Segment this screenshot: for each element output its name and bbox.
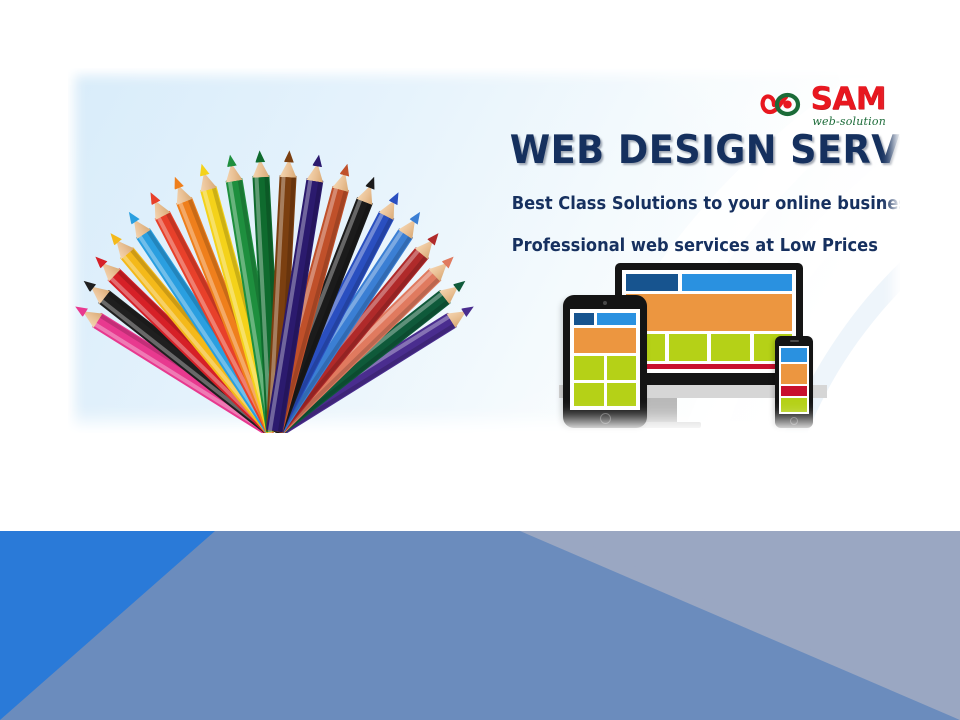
tablet-logo-block: [574, 313, 594, 325]
phone-home-button: [790, 417, 798, 425]
pencil-tip: [312, 154, 324, 167]
tablet-hero-block: [574, 328, 636, 353]
tablet-card-block: [574, 383, 604, 407]
monitor-header-row: [626, 274, 792, 291]
tablet-content-column: [607, 356, 637, 406]
tablet-nav-block: [597, 313, 636, 325]
tablet-header-row: [574, 313, 636, 325]
monitor-hero-block: [626, 294, 792, 331]
monitor-screen-content: [622, 270, 796, 373]
pencil-tip: [254, 150, 265, 163]
tablet-camera-icon: [603, 301, 607, 305]
monitor-logo-block: [626, 274, 678, 291]
pencil-tip: [339, 162, 352, 176]
responsive-devices-illustration: [563, 263, 823, 433]
pencil-tip: [388, 190, 402, 205]
monitor-nav-block: [682, 274, 792, 291]
slide-canvas: SAM web-solution WEB DESIGN SERVICES Bes…: [0, 0, 960, 720]
tablet-card-block: [574, 356, 604, 380]
phone-content-block: [781, 398, 807, 412]
pencil-tip: [365, 174, 379, 189]
web-design-services-banner: SAM web-solution WEB DESIGN SERVICES Bes…: [68, 68, 900, 433]
tablet-card-block: [607, 356, 637, 380]
pencil-tip: [225, 154, 237, 167]
pencil-tip: [283, 150, 294, 163]
tablet-content-grid: [574, 356, 636, 406]
logo-brand-text: SAM: [810, 84, 886, 115]
monitor-footer-block: [626, 364, 792, 369]
pencil-tip: [170, 174, 184, 189]
tablet-device: [563, 295, 647, 428]
monitor-card-block: [669, 334, 708, 361]
geometric-footer-band: [0, 531, 960, 720]
banner-subline-1: Best Class Solutions to your online busi…: [512, 194, 877, 214]
pencil-tip: [196, 162, 209, 176]
monitor-card-block: [711, 334, 750, 361]
phone-screen-content: [779, 346, 809, 414]
colored-pencils-photo: [74, 86, 474, 431]
logo-wordmark: SAM web-solution: [810, 84, 886, 127]
smartphone-device: [775, 336, 813, 428]
tablet-screen-content: [570, 309, 640, 410]
tablet-card-block: [607, 383, 637, 407]
banner-subline-2: Professional web services at Low Prices: [512, 236, 877, 256]
monitor-content-row: [626, 334, 792, 361]
phone-header-block: [781, 348, 807, 362]
tablet-content-column: [574, 356, 604, 406]
footer-shapes: [0, 531, 960, 720]
logo-tagline-text: web-solution: [810, 116, 886, 127]
phone-hero-block: [781, 364, 807, 384]
banner-headline: WEB DESIGN SERVICES: [510, 128, 878, 173]
sam-web-solution-logo: SAM web-solution: [759, 80, 886, 130]
tablet-home-button: [600, 413, 611, 424]
infinity-loop-icon: [759, 88, 805, 122]
phone-speaker-icon: [790, 340, 799, 342]
phone-accent-block: [781, 386, 807, 396]
